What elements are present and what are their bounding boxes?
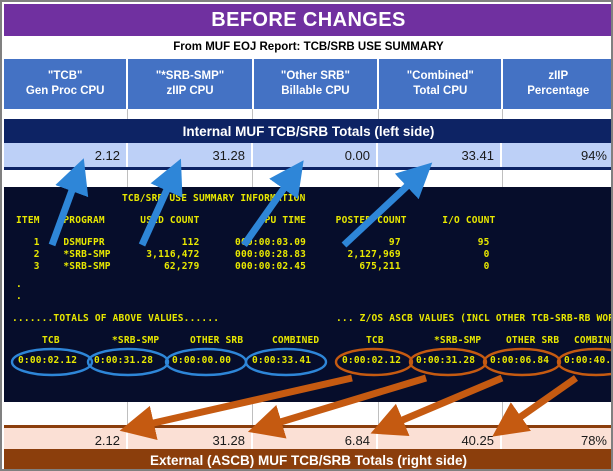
column-header-ziip-pct-line2: Percentage xyxy=(527,84,589,99)
spacer-cell xyxy=(503,109,613,119)
spacer-cell xyxy=(4,109,128,119)
column-header-tcb-line1: "TCB" xyxy=(48,69,83,84)
page-subtitle: From MUF EOJ Report: TCB/SRB USE SUMMARY xyxy=(4,36,613,58)
oval-right-combined xyxy=(558,349,613,375)
terminal-highlight-ovals xyxy=(4,187,613,402)
column-header-tcb-line2: Gen Proc CPU xyxy=(26,84,105,99)
external-totals-row: 2.12 31.28 6.84 40.25 78% xyxy=(4,425,613,452)
internal-totals-row: 2.12 31.28 0.00 33.41 94% xyxy=(4,143,613,167)
column-header-ziip-pct-line1: zIIP xyxy=(548,69,568,84)
column-header-srb-smp-line2: zIIP CPU xyxy=(167,84,214,99)
column-header-ziip-pct: zIIP Percentage xyxy=(503,59,613,109)
spacer-cell xyxy=(4,402,128,425)
oval-left-tcb xyxy=(12,349,92,375)
column-header-other-srb: "Other SRB" Billable CPU xyxy=(254,59,379,109)
page-title: BEFORE CHANGES xyxy=(4,4,613,36)
oval-left-combined xyxy=(246,349,326,375)
terminal-report-panel: TCB/SRB USE SUMMARY INFORMATION ITEM PRO… xyxy=(4,187,613,402)
oval-right-other-srb xyxy=(484,349,560,375)
spacer-cell xyxy=(253,109,378,119)
column-header-combined-line2: Total CPU xyxy=(413,84,467,99)
spacer-cell xyxy=(379,109,503,119)
spacer-cell xyxy=(128,170,253,187)
spacer-cell xyxy=(503,402,613,425)
spacer-row-bottom xyxy=(4,402,613,425)
column-header-combined-line1: "Combined" xyxy=(407,69,474,84)
internal-value-other-srb: 0.00 xyxy=(253,143,378,167)
internal-value-ziip-pct: 94% xyxy=(502,143,613,167)
column-header-srb-smp: "*SRB-SMP" zIIP CPU xyxy=(128,59,253,109)
spacer-cell xyxy=(128,109,253,119)
internal-value-srb-smp: 31.28 xyxy=(128,143,253,167)
oval-left-srb-smp xyxy=(88,349,168,375)
external-totals-band: External (ASCB) MUF TCB/SRB Totals (righ… xyxy=(4,449,613,471)
spacer-cell xyxy=(379,402,503,425)
spacer-row-top xyxy=(4,109,613,119)
internal-value-tcb: 2.12 xyxy=(4,143,128,167)
column-header-row: "TCB" Gen Proc CPU "*SRB-SMP" zIIP CPU "… xyxy=(4,59,613,109)
spacer-cell xyxy=(503,170,613,187)
spacer-cell xyxy=(253,402,378,425)
oval-right-tcb xyxy=(336,349,412,375)
column-header-other-srb-line2: Billable CPU xyxy=(281,84,349,99)
oval-left-other-srb xyxy=(166,349,246,375)
column-header-other-srb-line1: "Other SRB" xyxy=(281,69,350,84)
column-header-srb-smp-line1: "*SRB-SMP" xyxy=(156,69,224,84)
spacer-row-middle xyxy=(4,170,613,187)
slide-canvas: BEFORE CHANGES From MUF EOJ Report: TCB/… xyxy=(0,0,613,471)
spacer-cell xyxy=(4,170,128,187)
column-header-tcb: "TCB" Gen Proc CPU xyxy=(4,59,128,109)
spacer-cell xyxy=(379,170,503,187)
spacer-cell xyxy=(253,170,378,187)
spacer-cell xyxy=(128,402,253,425)
internal-value-combined: 33.41 xyxy=(378,143,502,167)
column-header-combined: "Combined" Total CPU xyxy=(379,59,503,109)
internal-totals-band: Internal MUF TCB/SRB Totals (left side) xyxy=(4,119,613,143)
oval-right-srb-smp xyxy=(410,349,486,375)
